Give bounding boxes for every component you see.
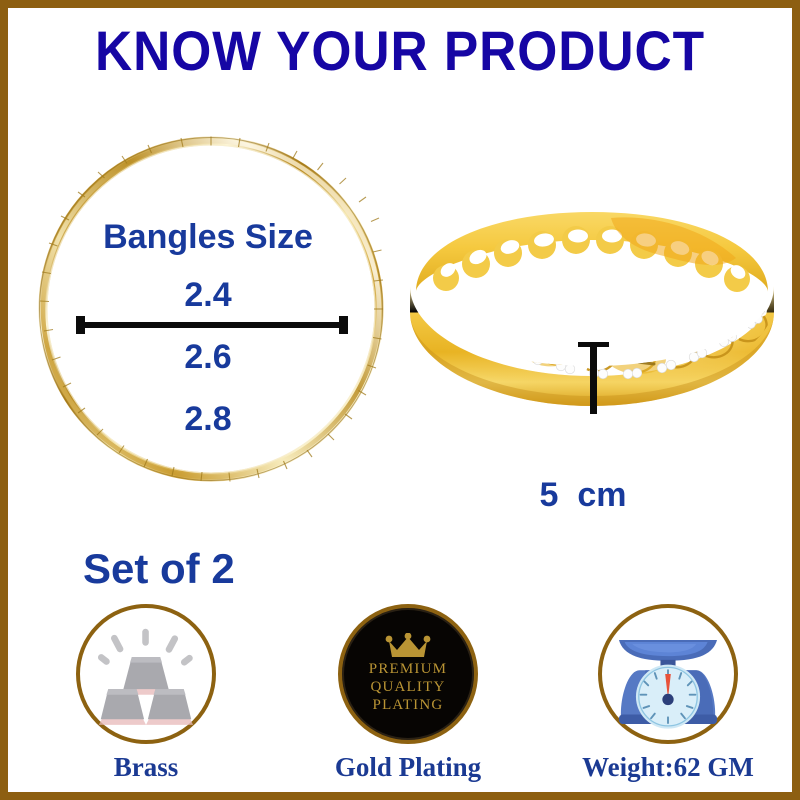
- weight-icon-circle: [598, 604, 738, 744]
- premium-quality-badge-icon: PREMIUM QUALITY PLATING: [338, 604, 478, 744]
- size-option-2-6: 2.6: [63, 338, 353, 377]
- measure-bar-cap-left: [76, 316, 85, 334]
- width-measure-line: [590, 342, 597, 414]
- brass-ingot-icon: [80, 608, 212, 740]
- page-title: KNOW YOUR PRODUCT: [39, 18, 760, 83]
- feature-brass: Brass: [46, 604, 246, 783]
- product-infographic: KNOW YOUR PRODUCT: [0, 0, 800, 800]
- crown-icon: [385, 633, 431, 659]
- badge-line-plating: PLATING: [369, 697, 447, 715]
- feature-gold-plating: PREMIUM QUALITY PLATING Gold Plating: [308, 604, 508, 783]
- brass-icon-circle: [76, 604, 216, 744]
- weighing-scale-icon: [602, 608, 734, 740]
- badge-line-premium: PREMIUM: [369, 661, 447, 679]
- measure-bar-line: [76, 322, 348, 328]
- feature-weight-caption: Weight:62 GM: [568, 752, 768, 783]
- feature-weight: Weight:62 GM: [568, 604, 768, 783]
- feature-gold-plating-caption: Gold Plating: [308, 752, 508, 783]
- size-option-2-8: 2.8: [63, 400, 353, 439]
- bangles-size-heading: Bangles Size: [63, 218, 353, 257]
- size-option-2-4: 2.4: [63, 276, 353, 315]
- set-of-2-label: Set of 2: [83, 545, 235, 593]
- feature-brass-caption: Brass: [46, 752, 246, 783]
- width-measure-label: 5 cm: [458, 476, 708, 515]
- diameter-measure-bar: [76, 316, 348, 334]
- badge-line-quality: QUALITY: [369, 679, 447, 697]
- measure-bar-cap-right: [339, 316, 348, 334]
